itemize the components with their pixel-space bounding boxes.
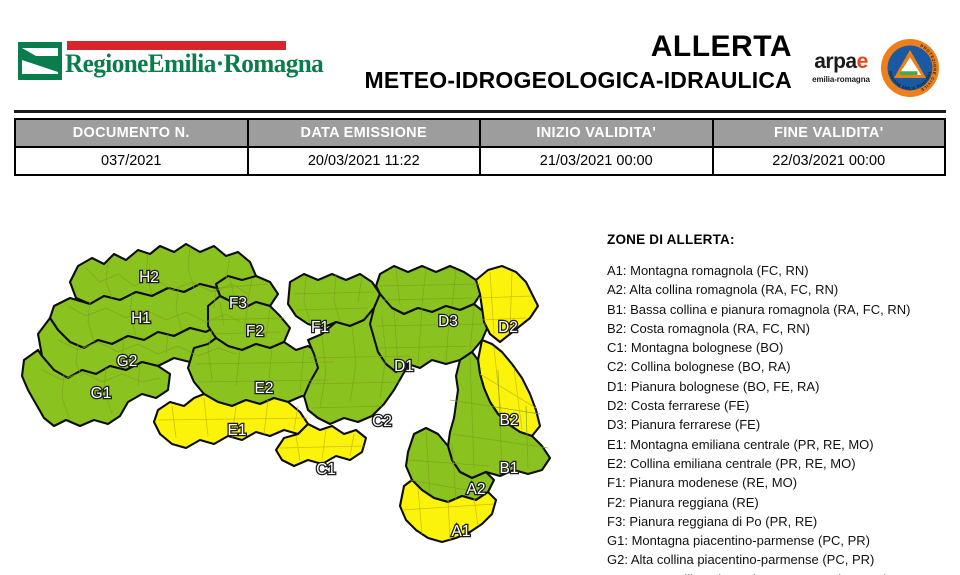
title-subtitle: METEO-IDROGEOLOGICA-IDRAULICA <box>232 66 792 94</box>
legend-item: F2: Pianura reggiana (RE) <box>607 493 955 512</box>
col-header-documento: DOCUMENTO N. <box>15 119 248 147</box>
legend-item: E2: Collina emiliana centrale (PR, RE, M… <box>607 454 955 473</box>
legend-item: A1: Montagna romagnola (FC, RN) <box>607 261 955 280</box>
header-divider-rule <box>14 110 946 113</box>
legend-item: C1: Montagna bolognese (BO) <box>607 338 955 357</box>
map-zone-label-D3: D3 <box>438 313 458 330</box>
arpae-logo: arpae emilia-romagna <box>808 52 874 86</box>
protezione-civile-logo-icon: PROTEZIONE CIVILE REGIONE EMILIA ROMAGNA <box>880 38 940 98</box>
legend-item: D3: Pianura ferrarese (FE) <box>607 415 955 434</box>
map-zone-label-B1: B1 <box>500 460 519 477</box>
legend-item: D2: Costa ferrarese (FE) <box>607 396 955 415</box>
legend-item: G1: Montagna piacentino-parmense (PC, PR… <box>607 531 955 550</box>
col-header-fine-validita: FINE VALIDITA' <box>713 119 946 147</box>
map-zone-label-C1: C1 <box>316 461 336 478</box>
page-title: ALLERTA METEO-IDROGEOLOGICA-IDRAULICA <box>232 30 792 94</box>
arpae-wordmark: arpae <box>808 52 874 72</box>
cell-inizio-validita: 21/03/2021 00:00 <box>480 147 713 175</box>
cell-documento-numero: 037/2021 <box>15 147 248 175</box>
cell-data-emissione: 20/03/2021 11:22 <box>248 147 481 175</box>
cell-fine-validita: 22/03/2021 00:00 <box>713 147 946 175</box>
regione-logo-mark-icon <box>18 42 62 80</box>
col-header-data-emissione: DATA EMISSIONE <box>248 119 481 147</box>
legend-item: B2: Costa romagnola (RA, FC, RN) <box>607 319 955 338</box>
document-info-table: DOCUMENTO N. DATA EMISSIONE INIZIO VALID… <box>14 118 946 176</box>
legend-item: F1: Pianura modenese (RE, MO) <box>607 473 955 492</box>
map-zone-label-A2: A2 <box>467 481 486 498</box>
legend-item: G2: Alta collina piacentino-parmense (PC… <box>607 550 955 569</box>
map-zone-label-F1: F1 <box>311 319 329 336</box>
title-allerta: ALLERTA <box>232 30 792 64</box>
arpae-word-arpa: arpa <box>814 50 856 73</box>
map-zone-label-C2: C2 <box>372 413 392 430</box>
map-zone-label-D2: D2 <box>498 319 518 336</box>
legend-item: E1: Montagna emiliana centrale (PR, RE, … <box>607 435 955 454</box>
legend-item: B1: Bassa collina e pianura romagnola (R… <box>607 300 955 319</box>
table-header-row: DOCUMENTO N. DATA EMISSIONE INIZIO VALID… <box>15 119 945 147</box>
map-zone-label-E2: E2 <box>255 380 274 397</box>
legend-item: D1: Pianura bolognese (BO, FE, RA) <box>607 377 955 396</box>
legend-item: H1: Bassa collina piacentino-parmense (P… <box>607 570 955 575</box>
map-zone-label-G2: G2 <box>117 353 138 370</box>
map-zone-label-H1: H1 <box>131 310 151 327</box>
legend-item: F3: Pianura reggiana di Po (PR, RE) <box>607 512 955 531</box>
legend-item-list: A1: Montagna romagnola (FC, RN)A2: Alta … <box>607 261 955 575</box>
page-header: RegioneEmilia·Romagna ALLERTA METEO-IDRO… <box>0 0 960 108</box>
map-zone-label-D1: D1 <box>394 358 414 375</box>
allerta-page: RegioneEmilia·Romagna ALLERTA METEO-IDRO… <box>0 0 960 575</box>
zone-legend: ZONE DI ALLERTA: A1: Montagna romagnola … <box>607 232 955 575</box>
map-zone-label-G1: G1 <box>91 385 112 402</box>
legend-title: ZONE DI ALLERTA: <box>607 232 955 247</box>
map-zone-label-E1: E1 <box>228 422 247 439</box>
legend-item: C2: Collina bolognese (BO, RA) <box>607 357 955 376</box>
map-zone-label-F3: F3 <box>229 295 247 312</box>
map-zone-label-A1: A1 <box>452 523 471 540</box>
map-zone-label-B2: B2 <box>500 412 519 429</box>
legend-item: A2: Alta collina romagnola (RA, FC, RN) <box>607 280 955 299</box>
table-row: 037/2021 20/03/2021 11:22 21/03/2021 00:… <box>15 147 945 175</box>
alert-zones-map: H2H1G2G1F3F2F1E2E1C1C2D3D1D2B2B1A2A1 <box>8 222 604 572</box>
map-zone-label-H2: H2 <box>139 269 159 286</box>
map-zone-label-F2: F2 <box>246 323 264 340</box>
arpae-subtitle: emilia-romagna <box>808 74 874 85</box>
arpae-word-e: e <box>857 50 868 73</box>
col-header-inizio-validita: INIZIO VALIDITA' <box>480 119 713 147</box>
